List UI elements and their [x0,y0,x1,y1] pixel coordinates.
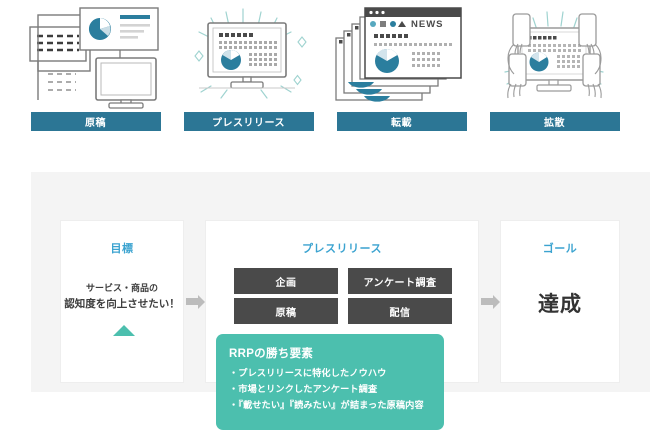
step-box-manuscript: 原稿 [234,298,338,324]
illustration-label-manuscript: 原稿 [31,112,161,131]
goal-panel-body: サービス・商品の 認知度を向上させたい！ [61,282,183,312]
goal-line-1: サービス・商品の [61,282,183,296]
diffusion-smartphones-illustration [487,0,622,112]
callout-item-1: ・プレスリリースに特化したノウハウ [229,366,431,382]
result-panel: ゴール 達成 [500,220,620,383]
result-panel-value: 達成 [501,288,619,318]
goal-panel: 目標 サービス・商品の 認知度を向上させたい！ [60,220,184,383]
press-release-monitor-illustration [181,0,316,112]
goal-panel-title: 目標 [61,240,183,256]
illustration-card-manuscript: 原稿 [28,0,163,150]
right-arrow-icon-2 [479,220,500,383]
step-box-plan: 企画 [234,268,338,294]
result-panel-title: ゴール [501,240,619,256]
step-box-distribution: 配信 [348,298,452,324]
illustration-card-press-release: プレスリリース [181,0,316,150]
illustration-label-republication: 転載 [337,112,467,131]
callout-item-2: ・市場とリンクしたアンケート調査 [229,382,431,398]
goal-line-2: 認知度を向上させたい！ [61,296,183,312]
illustration-card-republication: NEWS [334,0,469,150]
press-release-panel-title: プレスリリース [206,240,478,256]
illustration-row: 原稿 [0,0,650,150]
right-arrow-shaft [186,298,198,305]
callout-item-3: ・『載せたい』『読みたい』が詰まった原稿内容 [229,398,431,414]
right-arrow-shaft [481,298,493,305]
step-box-survey: アンケート調査 [348,268,452,294]
republication-news-windows-illustration: NEWS [334,0,469,112]
callout-pointer-icon [113,325,135,336]
manuscript-illustration [28,0,163,112]
svg-text:NEWS: NEWS [411,19,444,30]
right-arrow-icon-1 [184,220,205,383]
press-release-step-grid: 企画 アンケート調査 原稿 配信 [234,268,452,324]
illustration-label-press-release: プレスリリース [184,112,314,131]
callout-title: RRPの勝ち要素 [229,345,431,361]
illustration-label-diffusion: 拡散 [490,112,620,131]
rrp-callout: RRPの勝ち要素 ・プレスリリースに特化したノウハウ ・市場とリンクしたアンケー… [216,334,444,430]
illustration-card-diffusion: 拡散 [487,0,622,150]
